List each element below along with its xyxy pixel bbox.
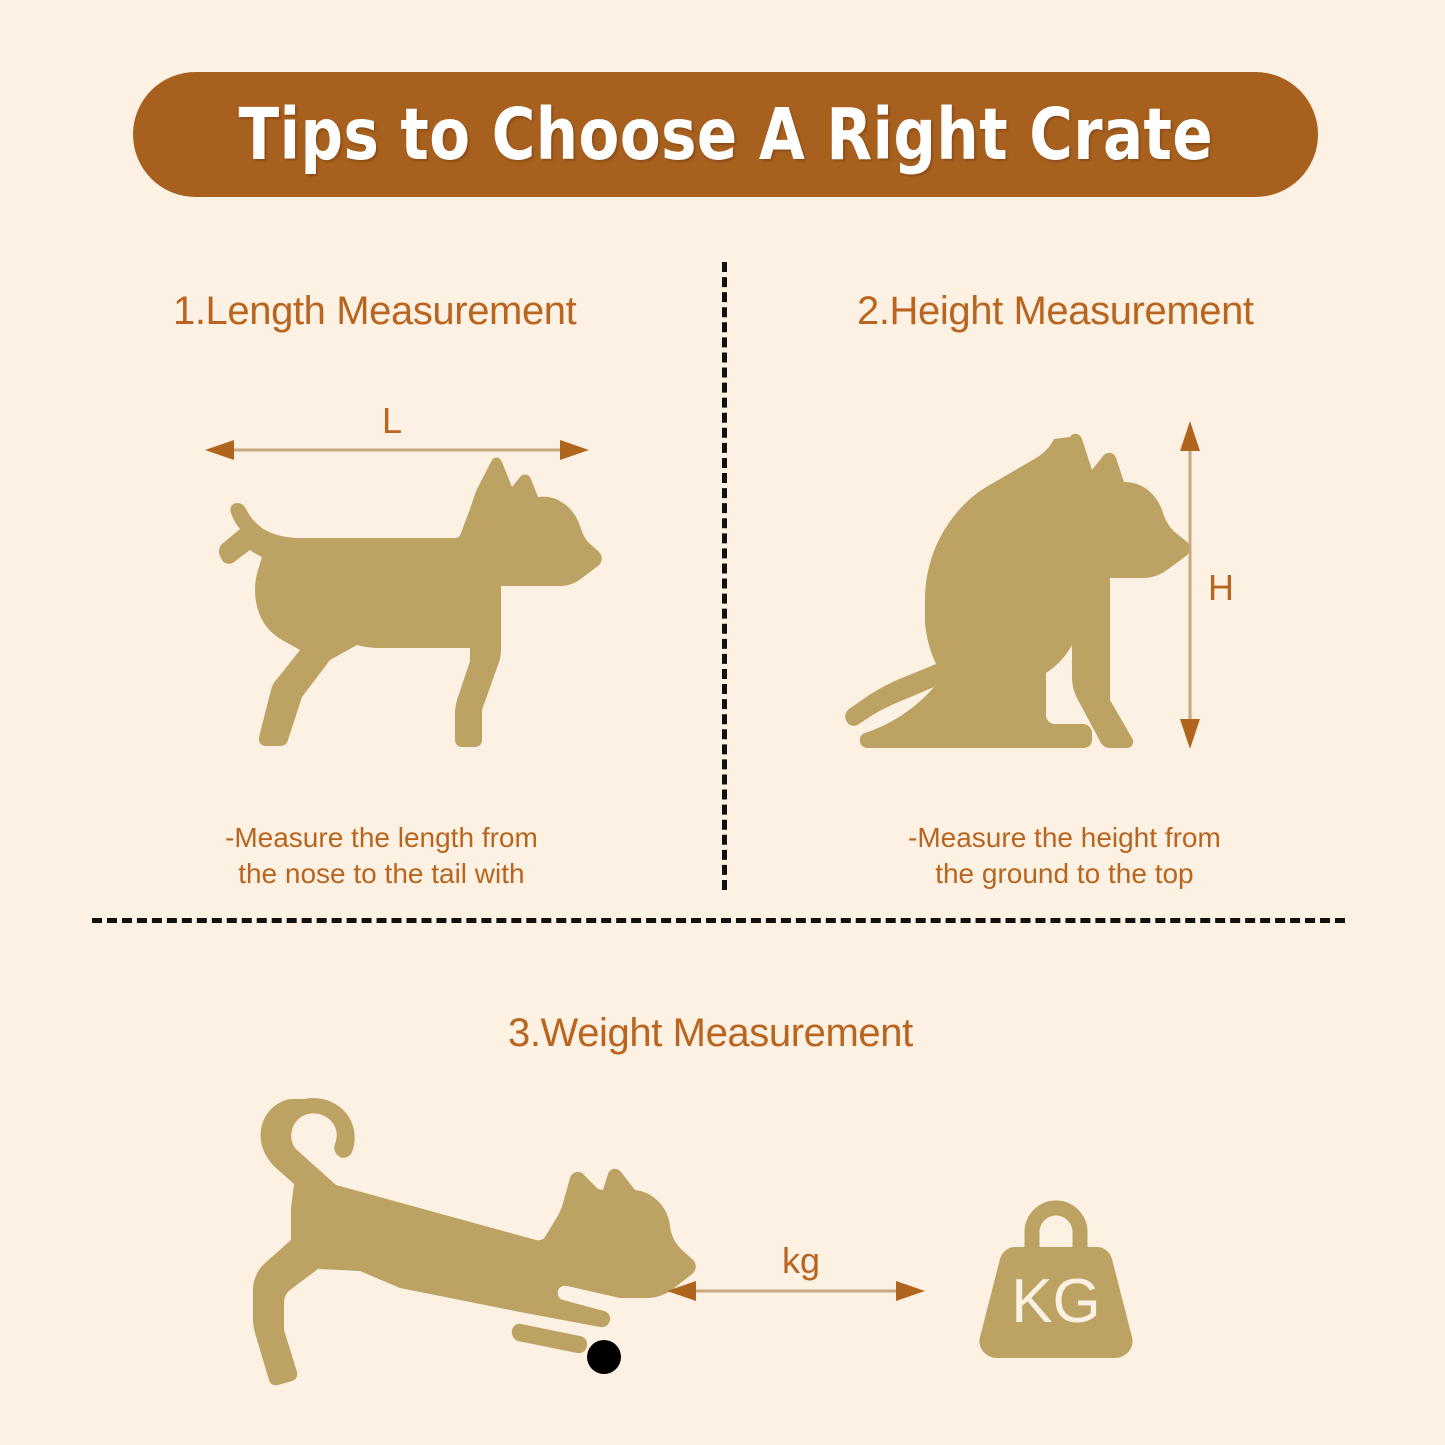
section-heading-weight: 3.Weight Measurement <box>508 1011 913 1056</box>
caption-length-line2: the nose to the tail with <box>225 856 538 892</box>
weight-measure-label: kg <box>782 1243 820 1279</box>
double-arrow-vertical-icon <box>1180 421 1200 749</box>
ball-icon <box>587 1340 621 1374</box>
sitting-dog-silhouette <box>845 434 1189 748</box>
section-heading-length: 1.Length Measurement <box>173 289 576 334</box>
title-banner: Tips to Choose A Right Crate <box>133 72 1318 197</box>
caption-height-line1: -Measure the height from <box>908 820 1221 856</box>
weight-arrow-icon <box>667 1281 925 1301</box>
kg-weight-icon-label: KG <box>1011 1267 1101 1336</box>
caption-length: -Measure the length from the nose to the… <box>225 820 538 892</box>
length-measure-label: L <box>382 403 402 439</box>
caption-length-line1: -Measure the length from <box>225 820 538 856</box>
standing-dog-silhouette <box>219 458 602 747</box>
height-measure-label: H <box>1208 570 1234 606</box>
page-title: Tips to Choose A Right Crate <box>238 99 1213 170</box>
caption-height: -Measure the height from the ground to t… <box>908 820 1221 892</box>
divider-vertical <box>722 262 727 890</box>
infographic-page: Tips to Choose A Right Crate 1.Length Me… <box>0 0 1445 1445</box>
section-heading-height: 2.Height Measurement <box>857 289 1254 334</box>
playing-dog-silhouette <box>253 1098 696 1385</box>
caption-height-line2: the ground to the top <box>908 856 1221 892</box>
double-arrow-horizontal-icon <box>205 440 589 460</box>
divider-horizontal <box>92 918 1345 923</box>
kg-weight-icon: KG <box>979 1208 1132 1358</box>
